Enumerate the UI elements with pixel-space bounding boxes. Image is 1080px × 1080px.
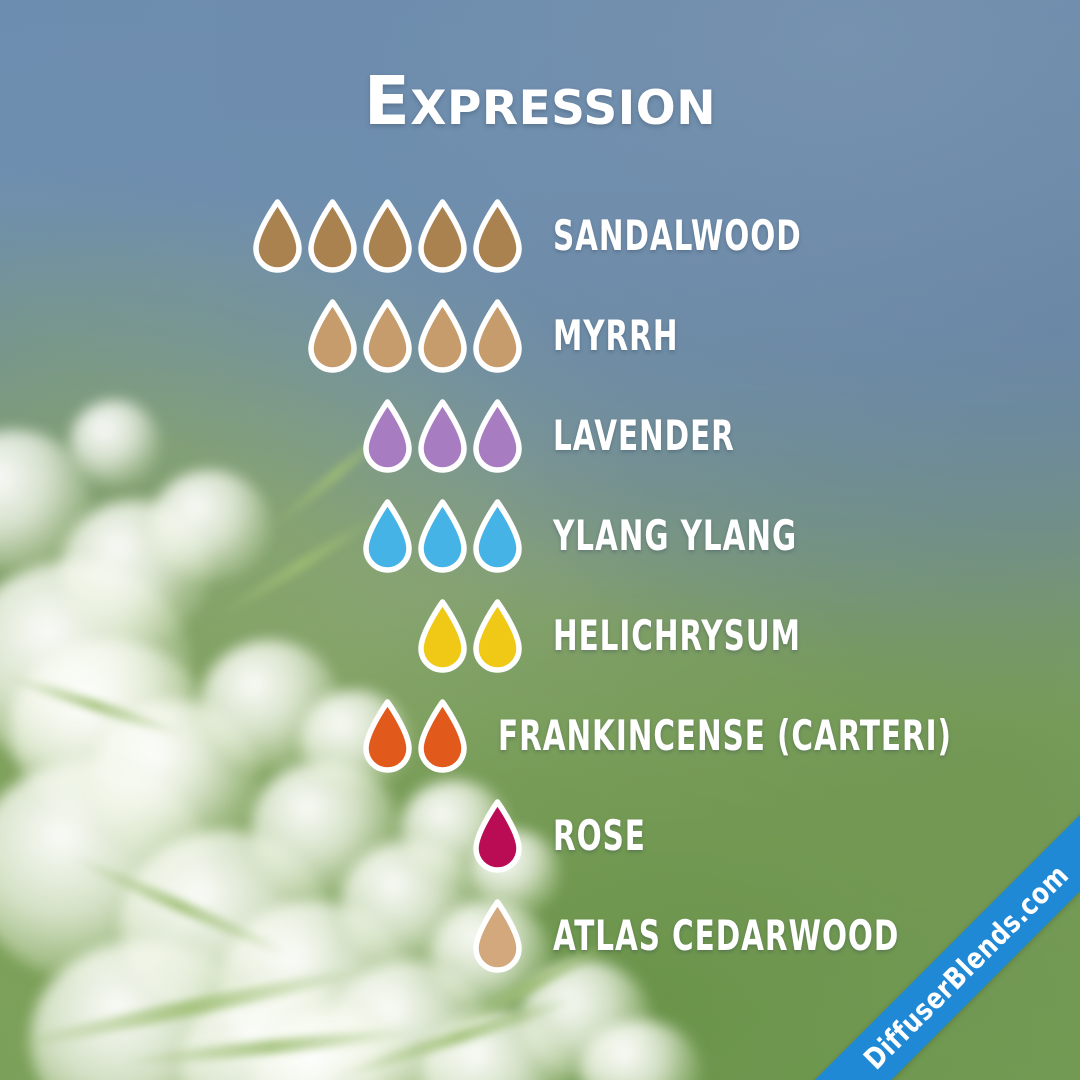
ingredient-label: HELICHRYSUM bbox=[553, 615, 801, 657]
ingredient-row: YLANG YLANG bbox=[0, 486, 1080, 586]
ingredient-label: FRANKINCENSE (CARTERI) bbox=[498, 715, 952, 757]
page-title: Expression bbox=[0, 62, 1080, 140]
droplet-icon bbox=[360, 697, 415, 776]
droplet-icon bbox=[415, 197, 470, 276]
droplet-group bbox=[0, 297, 525, 376]
ingredient-label: MYRRH bbox=[553, 315, 678, 357]
droplet-icon bbox=[415, 297, 470, 376]
droplet-icon bbox=[415, 397, 470, 476]
droplet-icon bbox=[250, 197, 305, 276]
ingredient-row: LAVENDER bbox=[0, 386, 1080, 486]
droplet-group bbox=[0, 197, 525, 276]
droplet-icon bbox=[360, 297, 415, 376]
droplet-group bbox=[0, 597, 525, 676]
droplet-icon bbox=[470, 297, 525, 376]
droplet-icon bbox=[305, 197, 360, 276]
droplet-icon bbox=[360, 397, 415, 476]
droplet-group bbox=[0, 697, 470, 776]
droplet-group bbox=[0, 797, 525, 876]
droplet-icon bbox=[415, 497, 470, 576]
droplet-group bbox=[0, 497, 525, 576]
ingredient-label: YLANG YLANG bbox=[553, 515, 797, 557]
droplet-icon bbox=[305, 297, 360, 376]
droplet-icon bbox=[470, 197, 525, 276]
ingredient-label: ROSE bbox=[553, 815, 646, 857]
droplet-icon bbox=[360, 497, 415, 576]
droplet-icon bbox=[470, 797, 525, 876]
droplet-icon bbox=[470, 597, 525, 676]
droplet-icon bbox=[415, 697, 470, 776]
droplet-icon bbox=[360, 197, 415, 276]
droplet-icon bbox=[470, 497, 525, 576]
ingredient-row: HELICHRYSUM bbox=[0, 586, 1080, 686]
droplet-icon bbox=[415, 597, 470, 676]
ingredient-row: FRANKINCENSE (CARTERI) bbox=[0, 686, 1080, 786]
ingredient-row: ROSE bbox=[0, 786, 1080, 886]
ingredient-label: ATLAS CEDARWOOD bbox=[553, 915, 899, 957]
droplet-icon bbox=[470, 397, 525, 476]
ingredient-label: SANDALWOOD bbox=[553, 215, 802, 257]
ingredient-label: LAVENDER bbox=[553, 415, 735, 457]
droplet-group bbox=[0, 397, 525, 476]
ingredient-row: MYRRH bbox=[0, 286, 1080, 386]
droplet-group bbox=[0, 897, 525, 976]
blend-ingredient-list: SANDALWOODMYRRHLAVENDERYLANG YLANGHELICH… bbox=[0, 186, 1080, 986]
ingredient-row: SANDALWOOD bbox=[0, 186, 1080, 286]
ingredient-row: ATLAS CEDARWOOD bbox=[0, 886, 1080, 986]
droplet-icon bbox=[470, 897, 525, 976]
